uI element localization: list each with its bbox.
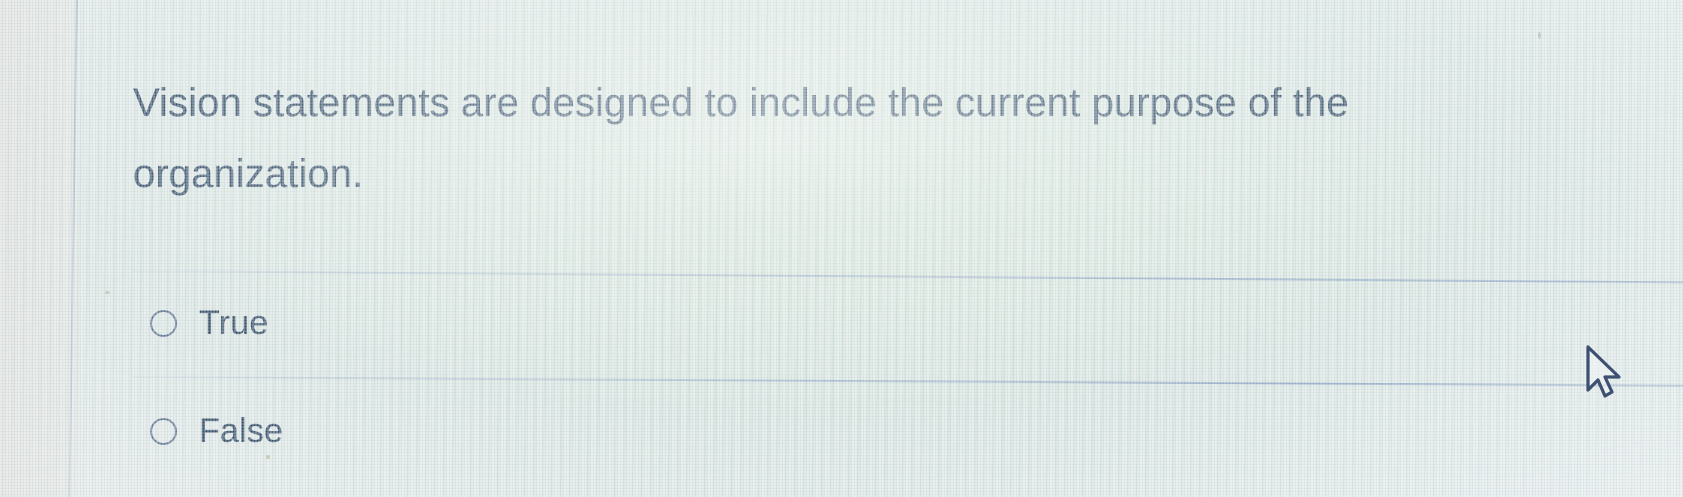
screen-photograph: Vision statements are designed to includ… bbox=[0, 0, 1683, 497]
quiz-question-card: Vision statements are designed to includ… bbox=[0, 0, 1683, 497]
radio-unchecked-icon-true[interactable] bbox=[150, 310, 177, 337]
answer-option-true-label: True bbox=[199, 306, 268, 340]
question-prompt: Vision statements are designed to includ… bbox=[133, 68, 1493, 210]
radio-unchecked-icon-false[interactable] bbox=[150, 418, 177, 445]
answer-option-false[interactable]: False bbox=[150, 414, 283, 448]
answer-option-true[interactable]: True bbox=[150, 306, 268, 340]
option-divider-middle bbox=[133, 376, 1683, 387]
answer-option-false-label: False bbox=[199, 414, 283, 448]
option-divider-top bbox=[133, 270, 1683, 283]
